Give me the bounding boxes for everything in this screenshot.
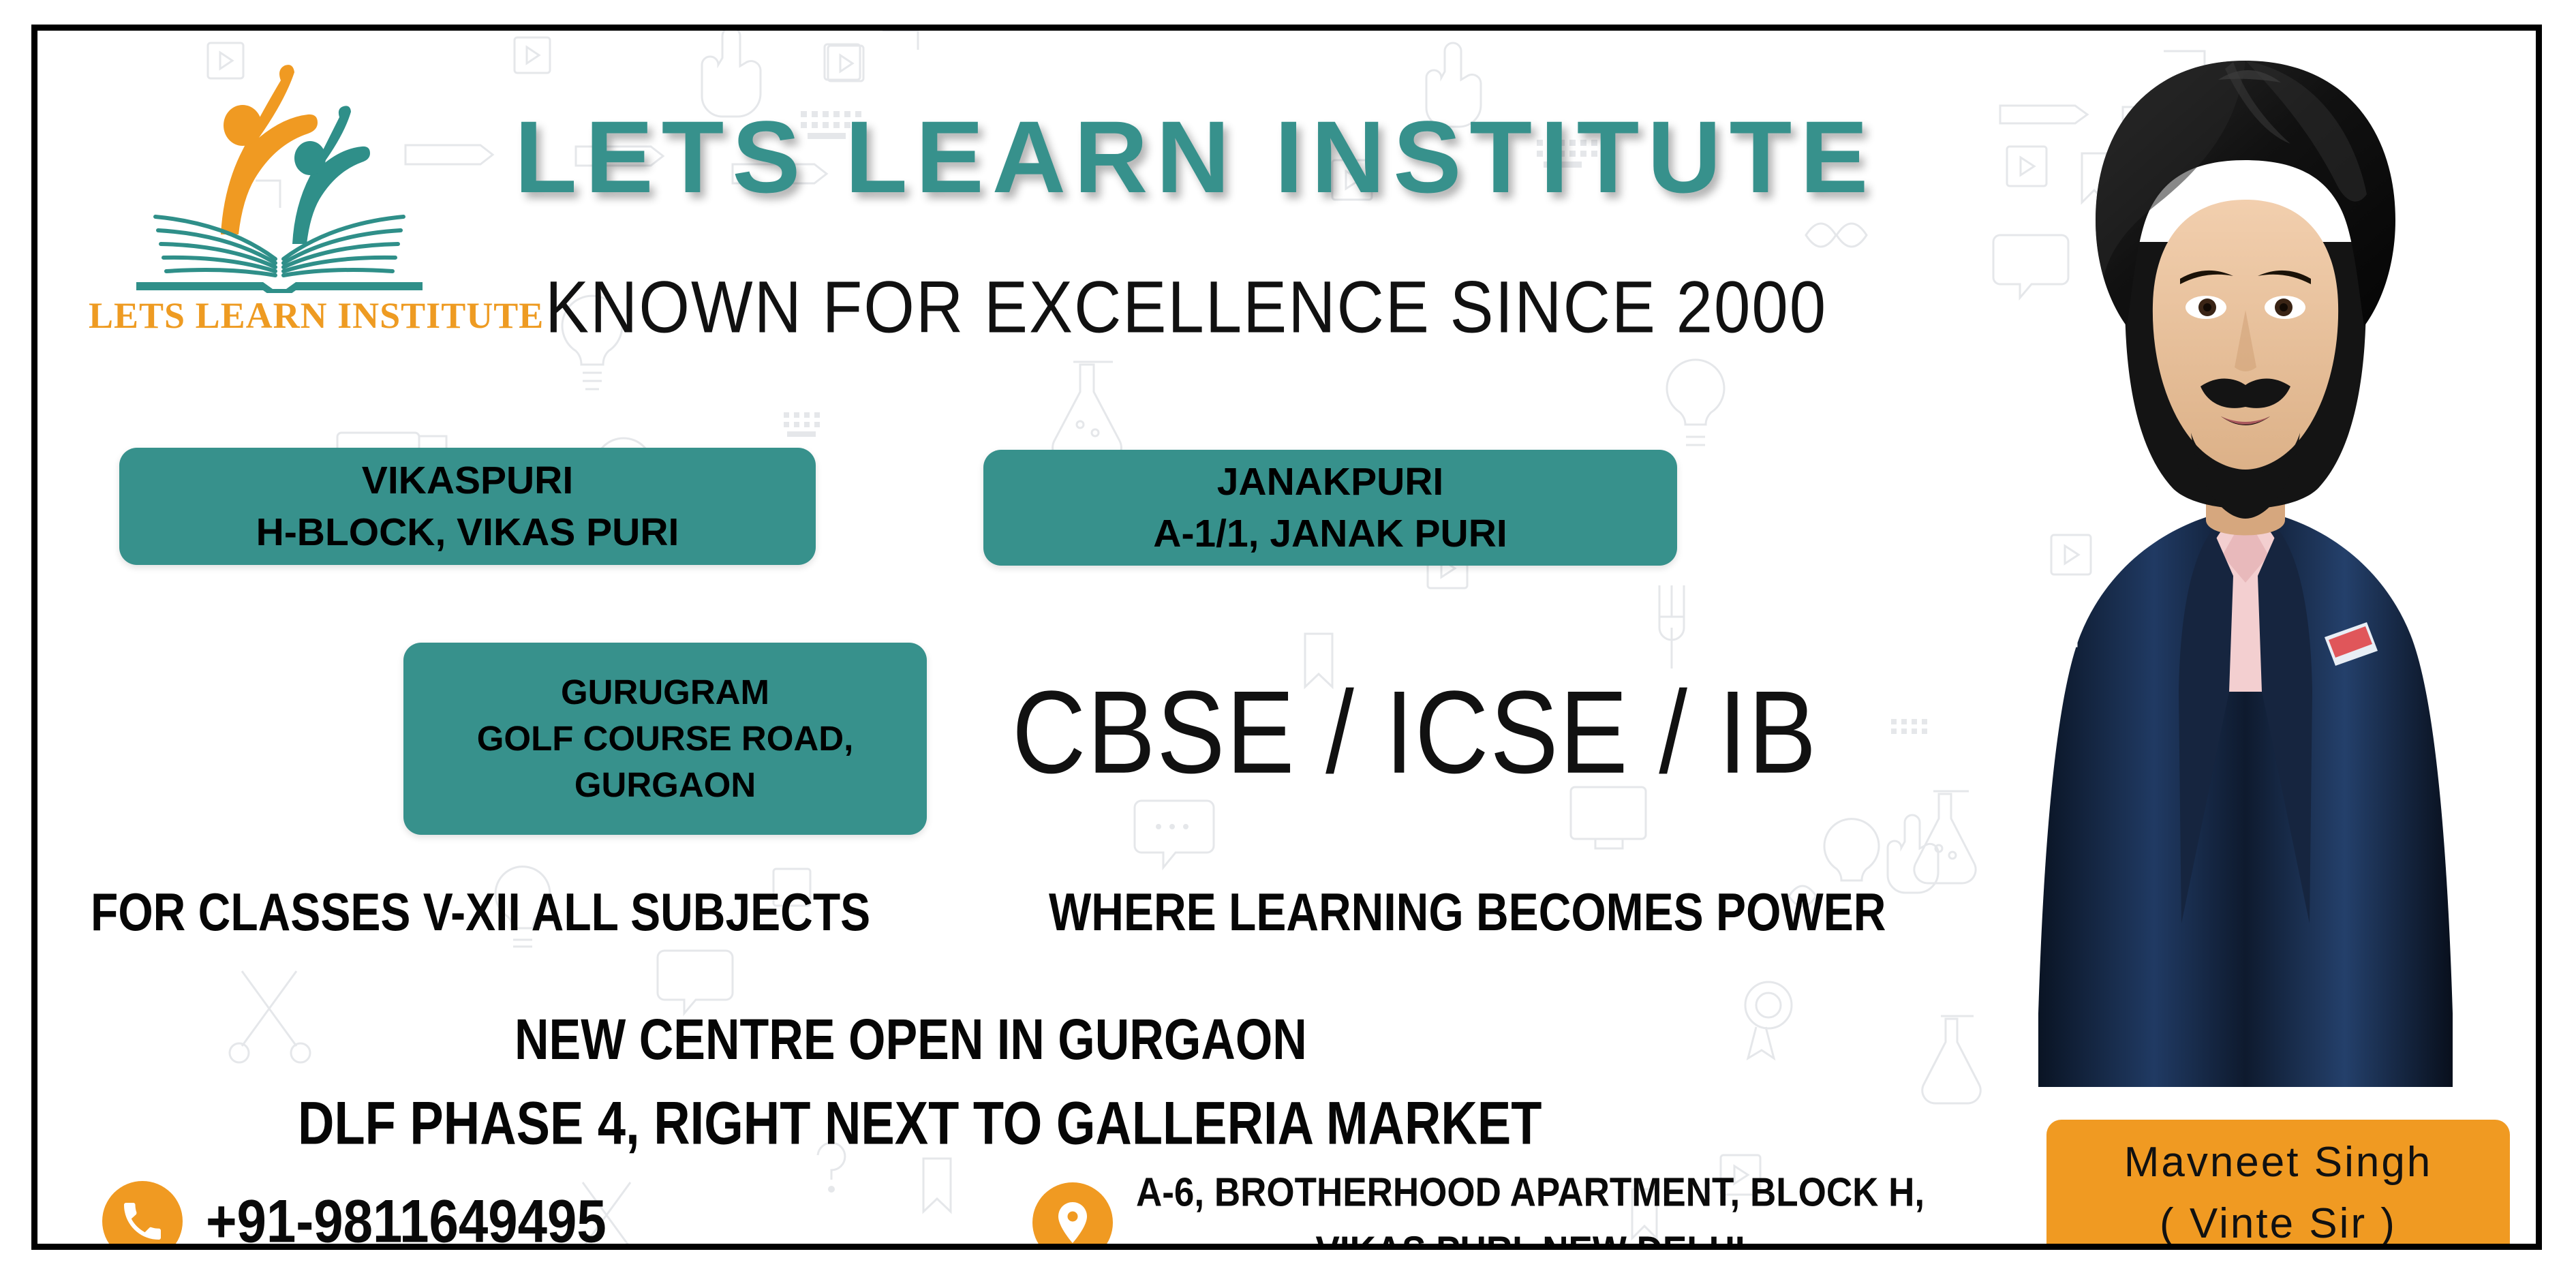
instructor-nameplate: Mavneet Singh ( Vinte Sir ) <box>2046 1120 2510 1250</box>
location-pin-icon <box>1032 1182 1113 1250</box>
centre-address-line2: GURGAON <box>574 762 756 808</box>
tagline-learning-power: WHERE LEARNING BECOMES POWER <box>1049 881 1886 942</box>
address-line-1: A-6, BROTHERHOOD APARTMENT, BLOCK H, <box>1136 1164 1925 1223</box>
centre-name: GURUGRAM <box>561 669 769 716</box>
logo-mark-figures-and-book <box>129 55 429 293</box>
centre-name: JANAKPURI <box>1217 456 1444 508</box>
announcement-line-1: NEW CENTRE OPEN IN GURGAON <box>515 1007 1307 1072</box>
phone-icon <box>102 1181 183 1250</box>
address-line-2: VIKAS PURI, NEW DELHI <box>1136 1223 1925 1250</box>
centre-address: A-1/1, JANAK PURI <box>1153 508 1507 559</box>
centre-badge-janakpuri[interactable]: JANAKPURI A-1/1, JANAK PURI <box>983 450 1677 566</box>
phone-number[interactable]: +91-9811649495 <box>206 1186 607 1250</box>
institute-logo: LETS LEARN INSTITUTE <box>89 55 470 368</box>
instructor-nickname: ( Vinte Sir ) <box>2160 1193 2397 1251</box>
page-subtitle: KNOWN FOR EXCELLENCE SINCE 2000 <box>545 266 2044 350</box>
address-text: A-6, BROTHERHOOD APARTMENT, BLOCK H, VIK… <box>1136 1164 1925 1250</box>
contact-phone[interactable]: +91-9811649495 <box>102 1181 607 1250</box>
centre-badge-gurugram[interactable]: GURUGRAM GOLF COURSE ROAD, GURGAON <box>403 643 927 835</box>
centre-address: H-BLOCK, VIKAS PURI <box>256 506 679 558</box>
instructor-name: Mavneet Singh <box>2124 1132 2433 1193</box>
contact-address[interactable]: A-6, BROTHERHOOD APARTMENT, BLOCK H, VIK… <box>1032 1170 1925 1250</box>
banner-frame: LETS LEARN INSTITUTE LETS LEARN INSTITUT… <box>31 25 2542 1250</box>
announcement-line-2: DLF PHASE 4, RIGHT NEXT TO GALLERIA MARK… <box>298 1088 1542 1158</box>
boards-offered: CBSE / ICSE / IB <box>1012 664 1818 800</box>
instructor-photo <box>1993 37 2498 1087</box>
page-title: LETS LEARN INSTITUTE <box>515 106 2014 208</box>
advertisement-banner: LETS LEARN INSTITUTE LETS LEARN INSTITUT… <box>0 0 2576 1288</box>
logo-wordmark: LETS LEARN INSTITUTE <box>89 294 470 337</box>
centre-badge-vikaspuri[interactable]: VIKASPURI H-BLOCK, VIKAS PURI <box>119 448 816 565</box>
centre-address-line1: GOLF COURSE ROAD, <box>477 716 854 762</box>
tagline-classes: FOR CLASSES V-XII ALL SUBJECTS <box>91 881 870 942</box>
centre-name: VIKASPURI <box>362 455 573 506</box>
